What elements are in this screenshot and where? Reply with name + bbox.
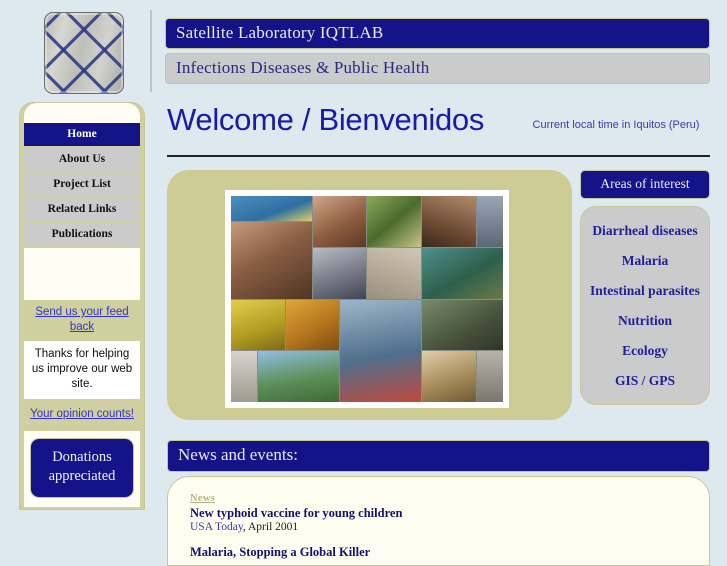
- collage-frame: [225, 190, 509, 408]
- sidebar-item-project-list[interactable]: Project List: [24, 173, 140, 196]
- nav-filler: [24, 248, 140, 300]
- donations-button[interactable]: Donations appreciated: [30, 438, 134, 498]
- site-logo[interactable]: [44, 12, 122, 92]
- banner-subtitle: Infections Diseases & Public Health: [165, 53, 710, 84]
- sidebar-item-about-us[interactable]: About Us: [24, 148, 140, 171]
- news-item: Malaria, Stopping a Global Killer: [190, 545, 689, 560]
- area-item-intestinal-parasites[interactable]: Intestinal parasites: [587, 283, 703, 298]
- photo-collage-icon[interactable]: [231, 196, 503, 402]
- page-root: Satellite Laboratory IQTLAB Infections D…: [0, 0, 727, 545]
- content-row: Areas of interest Diarrheal diseases Mal…: [165, 170, 710, 430]
- local-time-note: Current local time in Iquitos (Peru): [526, 118, 706, 132]
- news-item: News New typhoid vaccine for young child…: [190, 493, 689, 533]
- area-item-gis-gps[interactable]: GIS / GPS: [587, 373, 703, 388]
- collage-panel: [167, 170, 572, 420]
- opinion-link-box: Your opinion counts!: [20, 399, 144, 428]
- news-and-events-list: News New typhoid vaccine for young child…: [167, 476, 710, 566]
- sidebar-item-home[interactable]: Home: [24, 123, 140, 146]
- news-source-name[interactable]: USA Today: [190, 521, 243, 533]
- areas-of-interest-list: Diarrheal diseases Malaria Intestinal pa…: [580, 206, 710, 405]
- sidebar-item-related-links[interactable]: Related Links: [24, 198, 140, 221]
- area-item-nutrition[interactable]: Nutrition: [587, 313, 703, 328]
- news-item-title[interactable]: New typhoid vaccine for young children: [190, 506, 689, 521]
- news-and-events-heading: News and events:: [167, 440, 710, 472]
- sidebar-item-publications[interactable]: Publications: [24, 223, 140, 246]
- feedback-link-box: Send us your feed back: [20, 300, 144, 341]
- title-divider: [167, 155, 710, 157]
- news-item-title[interactable]: Malaria, Stopping a Global Killer: [190, 545, 689, 560]
- banner-lab-name: Satellite Laboratory IQTLAB: [165, 18, 710, 49]
- areas-of-interest-heading[interactable]: Areas of interest: [580, 170, 710, 199]
- title-row: Welcome / Bienvenidos Current local time…: [165, 100, 710, 152]
- donation-area: Donations appreciated: [24, 431, 140, 507]
- page-title: Welcome / Bienvenidos: [167, 102, 484, 138]
- news-source-date: , April 2001: [243, 521, 298, 533]
- area-item-diarrheal-diseases[interactable]: Diarrheal diseases: [587, 223, 703, 238]
- feedback-note: Thanks for helping us improve our web si…: [24, 341, 140, 399]
- area-item-ecology[interactable]: Ecology: [587, 343, 703, 358]
- nav-top-cap: [24, 103, 140, 123]
- your-opinion-counts-link[interactable]: Your opinion counts!: [30, 407, 134, 422]
- news-item-source: USA Today, April 2001: [190, 521, 689, 533]
- tile-pattern-logo-icon: [44, 12, 124, 94]
- areas-of-interest-panel: Areas of interest Diarrheal diseases Mal…: [580, 170, 710, 405]
- left-sidebar: Home About Us Project List Related Links…: [19, 102, 145, 510]
- main-content: Welcome / Bienvenidos Current local time…: [165, 100, 710, 152]
- header-divider: [150, 10, 152, 92]
- main-navigation: Home About Us Project List Related Links…: [20, 123, 144, 246]
- news-category-label[interactable]: News: [190, 493, 689, 504]
- area-item-malaria[interactable]: Malaria: [587, 253, 703, 268]
- site-header: Satellite Laboratory IQTLAB Infections D…: [0, 0, 727, 92]
- send-feedback-link[interactable]: Send us your feed back: [23, 305, 141, 335]
